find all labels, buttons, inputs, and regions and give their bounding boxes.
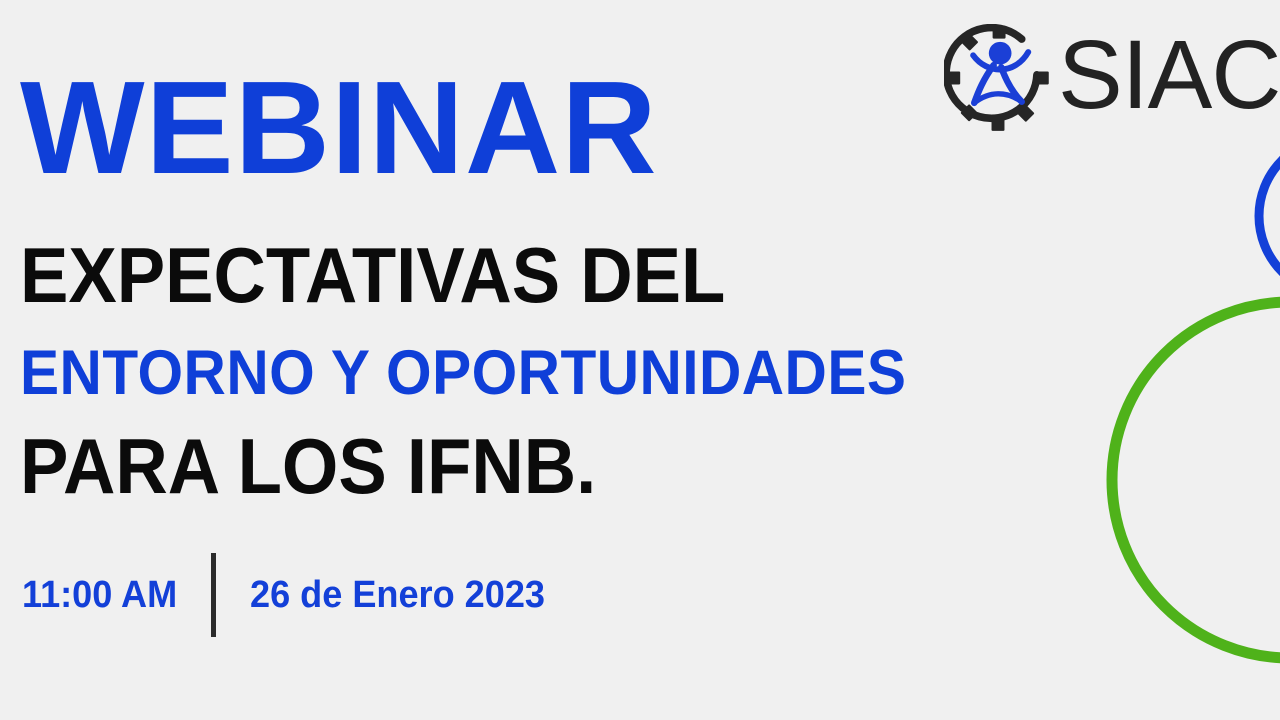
title-line-3: PARA LOS IFNB. [20, 427, 959, 505]
event-time: 11:00 AM [22, 576, 177, 614]
event-meta: 11:00 AM 26 de Enero 2023 [22, 552, 561, 638]
event-date: 26 de Enero 2023 [250, 576, 545, 614]
webinar-poster: SIAC WEBINAR EXPECTATIVAS DEL ENTORNO Y … [0, 0, 1280, 720]
decorative-circle-green [1112, 302, 1280, 658]
brand-name: SIAC [1058, 26, 1280, 123]
title-line-2: ENTORNO Y OPORTUNIDADES [20, 342, 959, 405]
decorative-circle-blue [1259, 137, 1280, 295]
headline-block: WEBINAR EXPECTATIVAS DEL ENTORNO Y OPORT… [20, 62, 1030, 505]
title-line-1: EXPECTATIVAS DEL [20, 236, 959, 314]
meta-divider [211, 553, 216, 637]
webinar-kicker: WEBINAR [20, 62, 1030, 194]
